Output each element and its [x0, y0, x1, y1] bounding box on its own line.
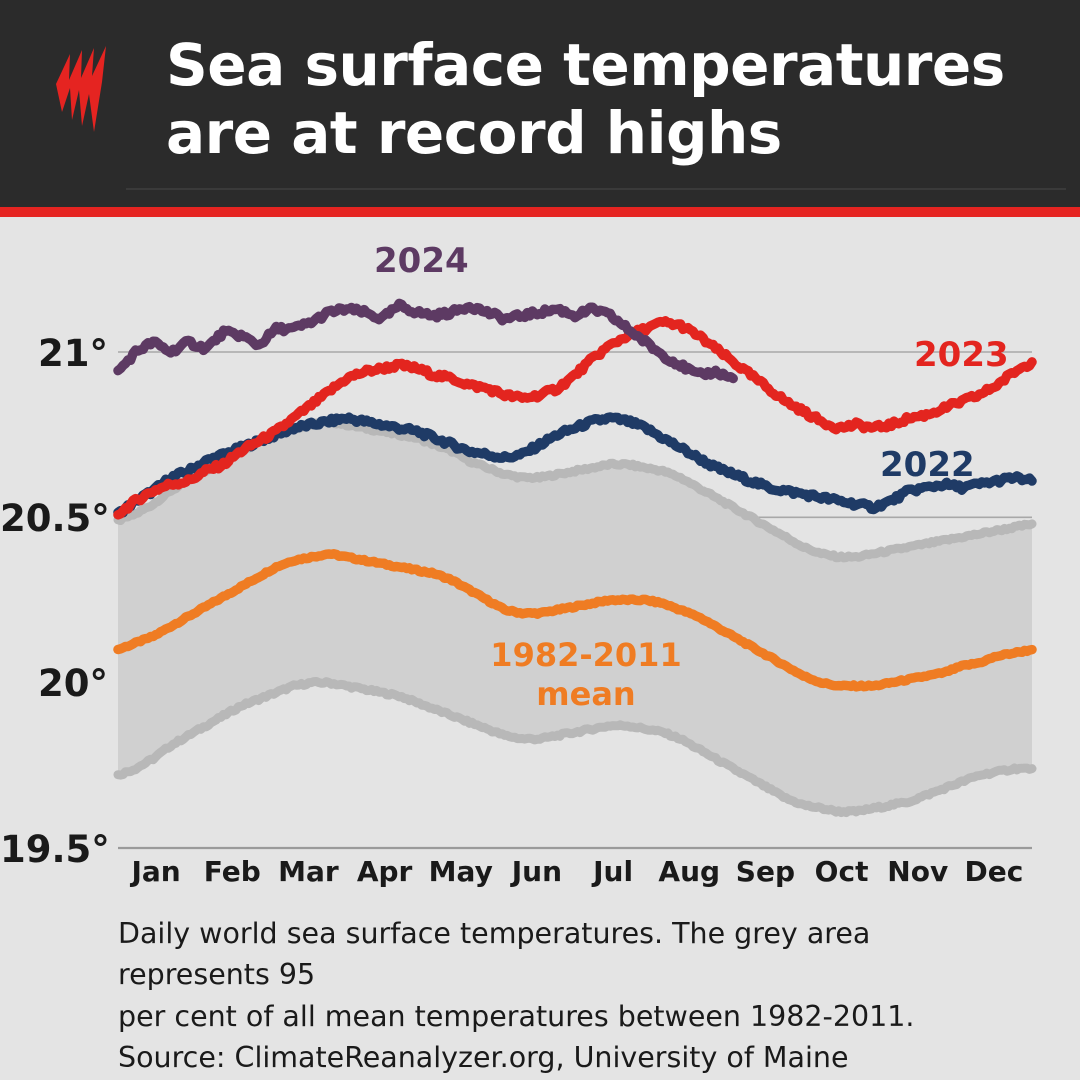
- series-label-mean: 1982-2011 mean: [438, 636, 734, 714]
- series-label-2023: 2023: [914, 335, 1009, 375]
- y-tick-21: 21°: [0, 332, 108, 375]
- caption-line-2: per cent of all mean temperatures betwee…: [118, 996, 1008, 1037]
- sbs-flame-logo-icon: [48, 38, 124, 134]
- title-line-1: Sea surface temperatures: [166, 32, 1046, 100]
- caption-line-1: Daily world sea surface temperatures. Th…: [118, 913, 1008, 996]
- chart-caption: Daily world sea surface temperatures. Th…: [118, 913, 1008, 1078]
- y-tick-19-5: 19.5°: [0, 828, 108, 871]
- line-chart: [0, 217, 1080, 917]
- mean-label-line-1: 1982-2011: [490, 636, 681, 674]
- header-divider: [126, 188, 1066, 190]
- title-line-2: are at record highs: [166, 100, 1046, 168]
- y-tick-20-5: 20.5°: [0, 497, 108, 540]
- series-label-2022: 2022: [880, 445, 975, 485]
- series-label-2024: 2024: [374, 241, 469, 281]
- caption-line-3: Source: ClimateReanalyzer.org, Universit…: [118, 1037, 1008, 1078]
- y-tick-20: 20°: [0, 662, 108, 705]
- mean-label-line-2: mean: [536, 675, 635, 713]
- accent-bar: [0, 207, 1080, 217]
- x-tick-dec: Dec: [934, 855, 1054, 888]
- header-banner: Sea surface temperatures are at record h…: [0, 0, 1080, 207]
- infographic-page: Sea surface temperatures are at record h…: [0, 0, 1080, 1080]
- page-title: Sea surface temperatures are at record h…: [166, 32, 1046, 168]
- chart-container: 21° 20.5° 20° 19.5° JanFebMarAprMayJunJu…: [0, 217, 1080, 917]
